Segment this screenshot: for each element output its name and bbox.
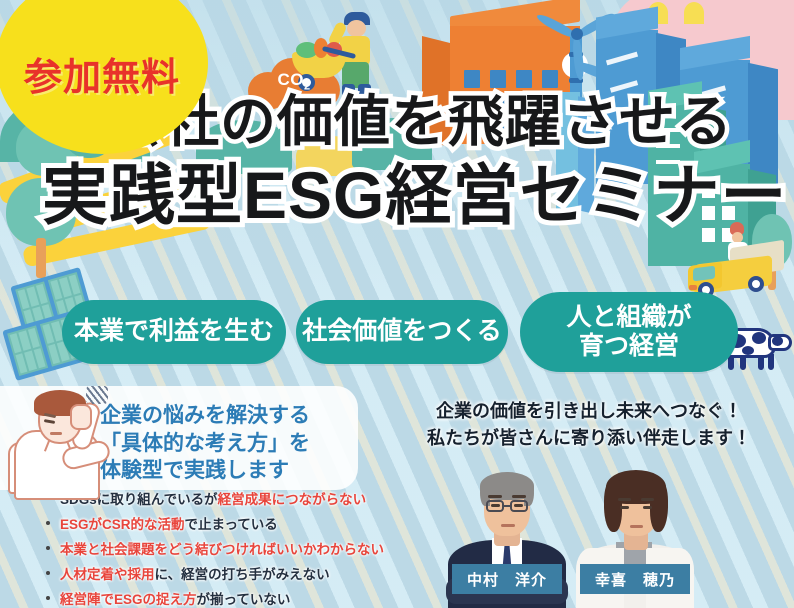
farmer-head xyxy=(347,20,366,37)
seminar-poster: CO2 xyxy=(0,0,794,608)
benefit-pill-group: 本業で利益を生む 社会価値をつくる 人と組織が 育つ経営 xyxy=(0,296,794,378)
speaker-2-nameplate: 幸喜 穂乃 xyxy=(580,564,690,594)
left-card-heading-line-3: 体験型で実践します xyxy=(100,457,376,485)
left-card-heading: 企業の悩みを解決する 「具体的な考え方」を 体験型で実践します xyxy=(100,402,376,485)
benefit-pill-3-label-line1: 人と組織が xyxy=(566,303,691,331)
speaker-2-name: 幸喜 穂乃 xyxy=(595,569,675,590)
list-item: 人材定着や採用に、経営の打ち手がみえない xyxy=(42,563,402,583)
truck-headlight xyxy=(689,285,697,290)
benefit-pill-3-label-line2: 育つ経営 xyxy=(579,332,679,360)
bullet-1-highlight: ESGがCSR的な活動 xyxy=(60,517,185,532)
left-card-heading-line-2: 「具体的な考え方」を xyxy=(100,430,376,458)
bullet-3-highlight: 人材定着や採用 xyxy=(60,567,155,582)
bullet-0-highlight: 経営成果につながらない xyxy=(218,492,367,507)
bullet-4-highlight: 経営陣でESGの捉え方 xyxy=(60,592,197,607)
speaker-1-name: 中村 洋介 xyxy=(467,569,547,590)
benefit-pill-2-label: 社会価値をつくる xyxy=(302,317,502,347)
benefit-pill-3: 人と組織が 育つ経営 xyxy=(520,292,738,372)
benefit-pill-1-label: 本業で利益を生む xyxy=(74,317,274,347)
right-tagline: 企業の価値を引き出し未来へつなぐ！ 私たちが皆さんに寄り添い伴走します！ xyxy=(398,398,780,452)
worry-hand xyxy=(70,404,92,430)
bullet-1-plain-after: で止まっている xyxy=(185,517,278,532)
title-line-2: 実践型ESG経営セミナー xyxy=(42,162,794,228)
bullet-4-plain-after: が揃っていない xyxy=(197,592,291,607)
benefit-pill-2: 社会価値をつくる xyxy=(296,300,508,364)
tagline-line-2: 私たちが皆さんに寄り添い伴走します！ xyxy=(398,425,780,452)
speaker-card-1: 中村 洋介 xyxy=(444,456,570,608)
list-item: ESGがCSR的な活動で止まっている xyxy=(42,513,402,533)
list-item: 本業と社会課題をどう結びつければいいかわからない xyxy=(42,538,402,558)
title-line-1: 会社の価値を飛躍させる xyxy=(106,94,794,150)
speaker-1-nameplate: 中村 洋介 xyxy=(452,564,562,594)
speaker-card-2: 幸喜 穂乃 xyxy=(572,456,698,608)
free-admission-label: 参加無料 xyxy=(24,46,180,101)
worried-businessman-illustration xyxy=(8,386,112,498)
bullet-2-highlight: 本業と社会課題をどう結びつければいいかわからない xyxy=(60,542,384,557)
tagline-line-1: 企業の価値を引き出し未来へつなぐ！ xyxy=(398,398,780,425)
truck-wheel-rear xyxy=(748,276,764,292)
worry-stress-mark xyxy=(86,386,108,404)
bullet-3-plain-after: に、経営の打ち手がみえない xyxy=(155,567,330,582)
benefit-pill-1: 本業で利益を生む xyxy=(62,300,286,364)
list-item: 経営陣でESGの捉え方が揃っていない xyxy=(42,588,402,608)
pain-point-list: SDGsに取り組んでいるが経営成果につながらない ESGがCSR的な活動で止まっ… xyxy=(42,488,402,608)
worry-mouth xyxy=(50,432,62,435)
left-card-heading-line-1: 企業の悩みを解決する xyxy=(100,402,376,430)
truck-window xyxy=(693,266,715,282)
